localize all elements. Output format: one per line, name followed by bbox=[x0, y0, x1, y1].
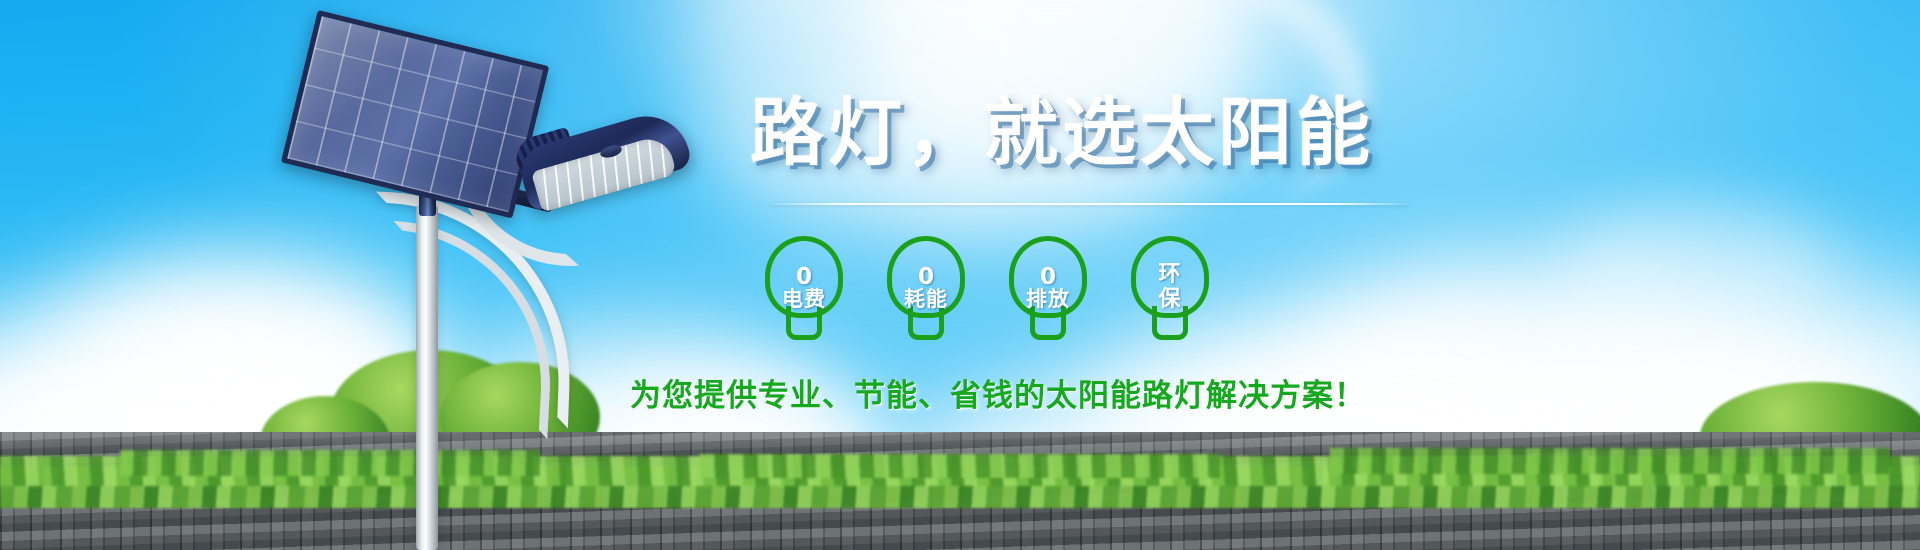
feature-badge: 0 排放 bbox=[1006, 236, 1090, 340]
feature-badge-text: 环保 bbox=[1158, 263, 1181, 312]
subtitle-text: 为您提供专业、节能、省钱的太阳能路灯解决方案！ bbox=[630, 370, 1440, 415]
feature-badge-text: 0 排放 bbox=[1026, 266, 1070, 311]
lamp-pole bbox=[416, 205, 438, 550]
badge-label: 环保 bbox=[1158, 263, 1181, 312]
marketing-copy-block: 路灯，就选太阳能 0 电费 0 耗能 bbox=[740, 0, 1920, 550]
feature-badge-text: 0 电费 bbox=[782, 266, 826, 311]
feature-badge-list: 0 电费 0 耗能 0 bbox=[762, 236, 1212, 340]
feature-badge: 环保 bbox=[1128, 236, 1212, 340]
badge-label: 耗能 bbox=[904, 289, 948, 310]
feature-badge: 0 电费 bbox=[762, 236, 846, 340]
feature-badge: 0 耗能 bbox=[884, 236, 968, 340]
feature-badge-text: 0 耗能 bbox=[904, 266, 948, 311]
badge-label: 电费 bbox=[782, 289, 826, 310]
solar-panel bbox=[281, 10, 549, 219]
lightbulb-base-icon bbox=[1030, 306, 1066, 340]
badge-zero-value: 0 bbox=[782, 266, 826, 289]
badge-label: 排放 bbox=[1026, 289, 1070, 310]
lightbulb-base-icon bbox=[786, 306, 822, 340]
solar-street-lamp-banner: 路灯，就选太阳能 0 电费 0 耗能 bbox=[0, 0, 1920, 550]
page-title: 路灯，就选太阳能 bbox=[750, 96, 1450, 170]
solar-street-lamp bbox=[0, 0, 760, 550]
badge-zero-value: 0 bbox=[904, 266, 948, 289]
solar-panel-glare bbox=[287, 16, 543, 212]
badge-zero-value: 0 bbox=[1026, 266, 1070, 289]
lightbulb-base-icon bbox=[908, 306, 944, 340]
headline-divider bbox=[770, 203, 1410, 205]
